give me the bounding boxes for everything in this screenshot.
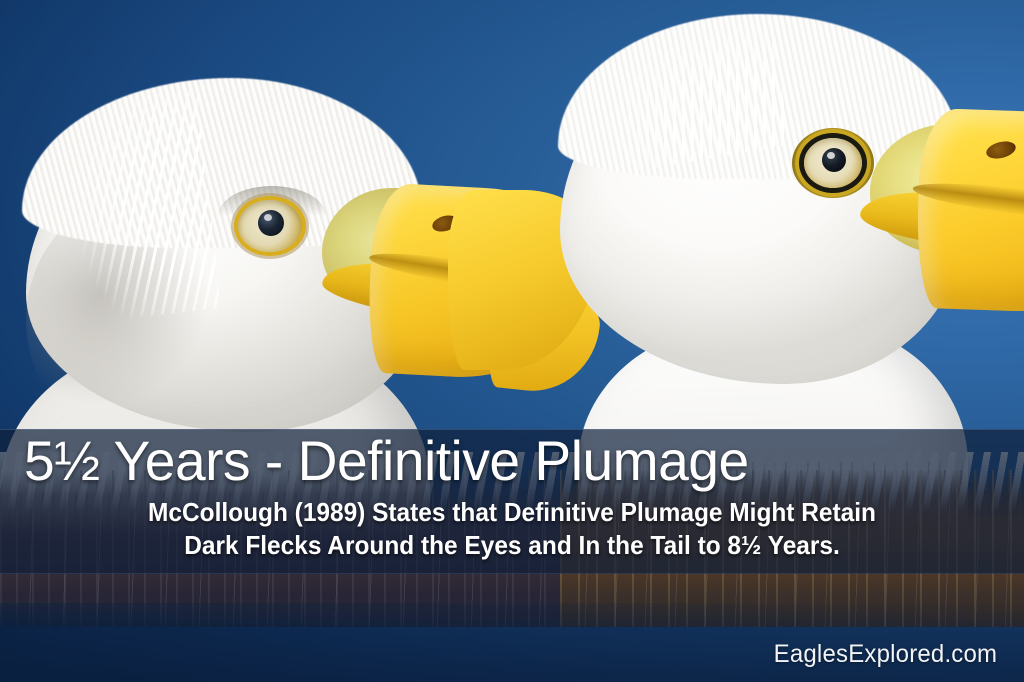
eagle-right-eye-glint xyxy=(827,152,835,159)
poster-canvas: 5½ Years - Definitive Plumage McCollough… xyxy=(0,0,1024,682)
eagle-left-eye-glint xyxy=(264,214,272,221)
footer: EaglesExplored.com xyxy=(0,627,1024,682)
eagle-left-spiky-crest-icon xyxy=(0,90,221,331)
caption-band: 5½ Years - Definitive Plumage McCollough… xyxy=(0,429,1024,574)
page-title: 5½ Years - Definitive Plumage xyxy=(24,429,985,492)
subtitle-line-1: McCollough (1989) States that Definitive… xyxy=(53,492,970,529)
caption-content: 5½ Years - Definitive Plumage McCollough… xyxy=(0,429,1024,574)
subtitle-line-2: Dark Flecks Around the Eyes and In the T… xyxy=(53,529,970,562)
site-credit: EaglesExplored.com xyxy=(774,640,998,669)
eagle-left-pupil xyxy=(258,210,284,236)
eagle-right-pupil xyxy=(822,148,846,172)
